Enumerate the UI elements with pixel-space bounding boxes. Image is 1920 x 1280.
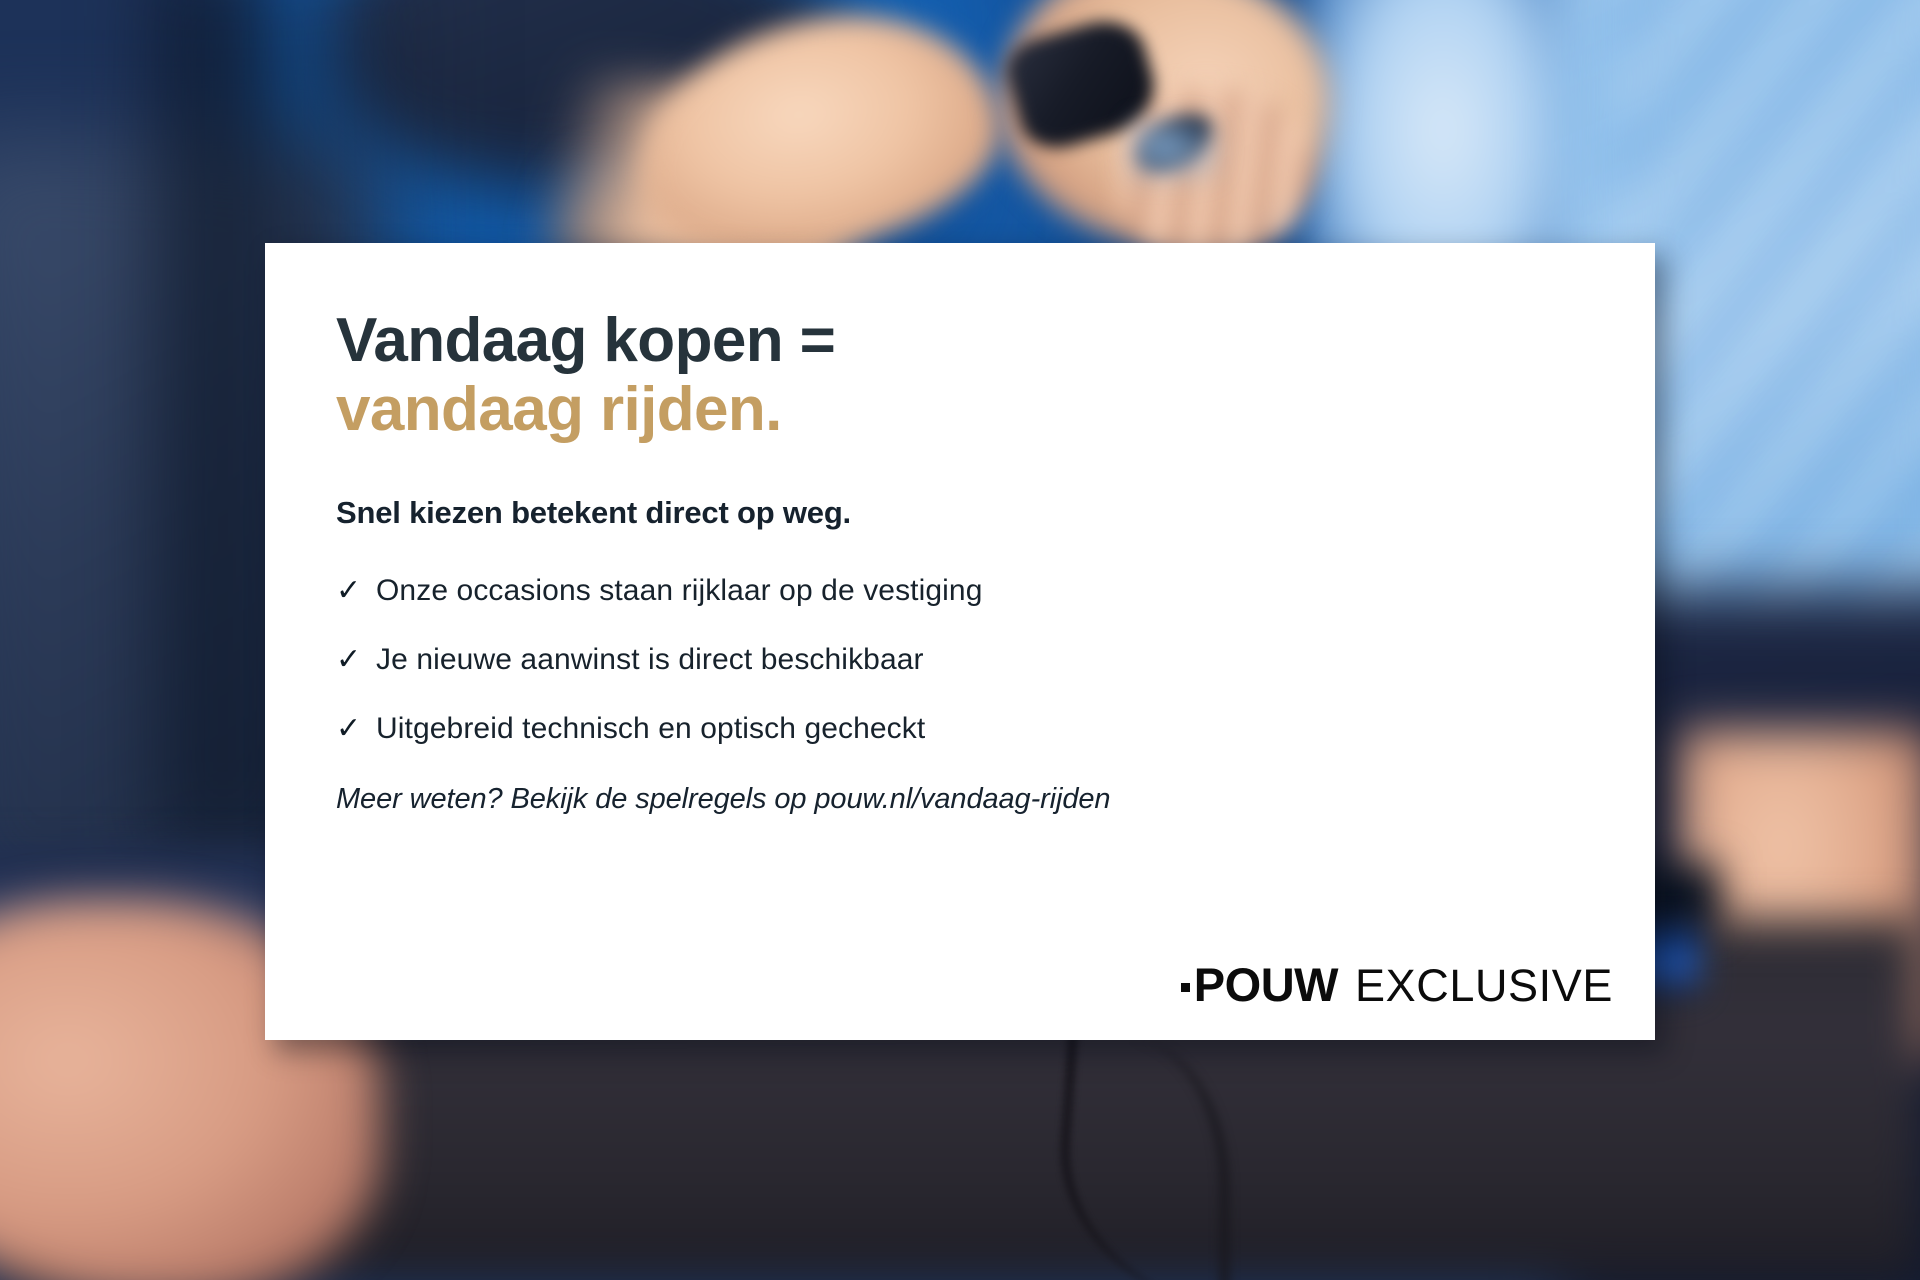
subheading: Snel kiezen betekent direct op weg. [336,495,1655,531]
headline-line-1: Vandaag kopen = [336,306,835,375]
check-icon: ✓ [336,645,376,675]
list-item-label: Onze occasions staan rijklaar op de vest… [376,576,983,606]
list-item: ✓ Uitgebreid technisch en optisch gechec… [336,714,1655,744]
content-card: Vandaag kopen = vandaag rijden. Snel kie… [265,243,1655,1040]
list-item-label: Uitgebreid technisch en optisch gecheckt [376,714,925,744]
footnote-link-text[interactable]: Meer weten? Bekijk de spelregels op pouw… [336,783,1655,816]
check-icon: ✓ [336,576,376,606]
ad-banner: Vandaag kopen = vandaag rijden. Snel kie… [0,0,1920,1280]
list-item-label: Je nieuwe aanwinst is direct beschikbaar [376,645,924,675]
check-icon: ✓ [336,714,376,744]
list-item: ✓ Je nieuwe aanwinst is direct beschikba… [336,645,1655,675]
photo-key-glint [1130,120,1220,180]
brand-logo: POUW EXCLUSIVE [1181,957,1613,1012]
logo-dot-icon [1181,983,1190,992]
headline-line-2: vandaag rijden. [336,375,1655,444]
logo-suffix: EXCLUSIVE [1355,960,1613,1012]
page-title: Vandaag kopen = vandaag rijden. [336,306,1655,445]
logo-brand-name: POUW [1194,957,1338,1012]
list-item: ✓ Onze occasions staan rijklaar op de ve… [336,576,1655,606]
photo-shirt-folds [1620,0,1920,640]
benefits-list: ✓ Onze occasions staan rijklaar op de ve… [336,576,1655,744]
